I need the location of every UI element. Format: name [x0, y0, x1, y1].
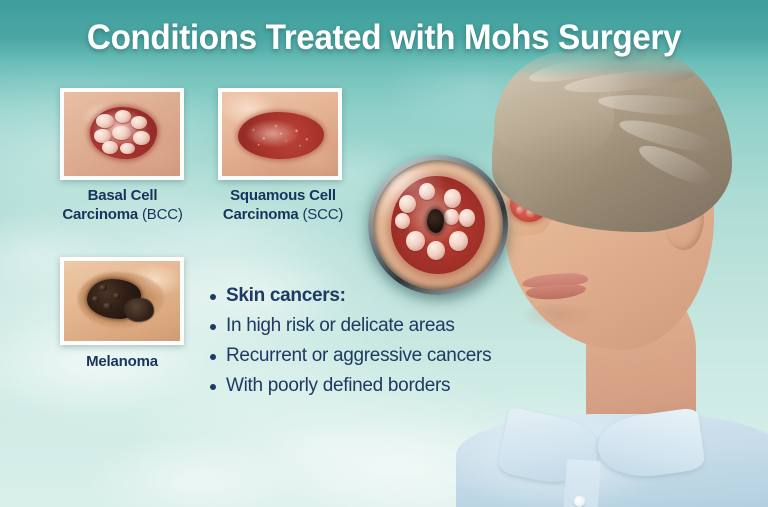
skin-background [64, 261, 180, 341]
melanoma-label: Melanoma [52, 352, 192, 371]
shirt-button [574, 496, 585, 507]
scc-name-line1: Squamous Cell [230, 187, 336, 204]
basal-cell-carcinoma-photo [60, 88, 184, 180]
squamous-cell-carcinoma-photo [218, 88, 342, 180]
skin-background [222, 92, 338, 176]
lesion-ulceration [427, 209, 444, 233]
magnified-lesion [391, 176, 485, 275]
bcc-name-line2: Carcinoma [62, 206, 138, 223]
lesion-nodule [427, 241, 445, 260]
bcc-name-line1: Basal Cell [88, 187, 158, 204]
melanoma-photo [60, 257, 184, 345]
infographic-poster: Conditions Treated with Mohs Surgery Bas… [0, 0, 768, 507]
bullet-list: Skin cancers: In high risk or delicate a… [208, 281, 538, 401]
photo-inner [64, 92, 180, 176]
bcc-lesion [90, 107, 157, 159]
melanoma-speck [113, 293, 120, 299]
page-title: Conditions Treated with Mohs Surgery [19, 18, 749, 58]
skin-background [64, 92, 180, 176]
list-item: Recurrent or aggressive cancers [208, 341, 538, 371]
melanoma-satellite [124, 298, 154, 322]
photo-inner [222, 92, 338, 176]
lesion-nodule [449, 231, 468, 251]
lesion-nodule [131, 116, 147, 128]
list-item: In high risk or delicate areas [208, 311, 538, 341]
lesion-nodule [94, 129, 111, 143]
lesion-nodule [112, 126, 131, 141]
lesion-nodule [133, 131, 150, 145]
patient-portrait [468, 42, 768, 507]
list-item: Skin cancers: [208, 281, 538, 311]
list-item: With poorly defined borders [208, 371, 538, 401]
lesion-nodule [399, 195, 416, 213]
photo-inner [64, 261, 180, 341]
lesion-nodule [419, 183, 435, 200]
lesion-nodule [96, 114, 113, 128]
scc-abbreviation: (SCC) [303, 206, 344, 223]
lesion-nodule [102, 141, 118, 153]
magnified-lesion-inset [368, 155, 508, 295]
squamous-cell-carcinoma-label: Squamous Cell Carcinoma (SCC) [198, 186, 368, 224]
magnifier-lens [373, 160, 503, 290]
lesion-nodule [444, 209, 459, 225]
lesion-nodule [120, 143, 135, 154]
basal-cell-carcinoma-label: Basal Cell Carcinoma (BCC) [40, 186, 205, 224]
melanoma-speck [103, 303, 111, 309]
melanoma-speck [92, 296, 99, 302]
scc-lesion [238, 112, 324, 159]
scc-name-line2: Carcinoma [223, 206, 299, 223]
lesion-nodule [406, 231, 425, 251]
lesion-nodule [459, 209, 476, 227]
bcc-abbreviation: (BCC) [142, 206, 183, 223]
lesion-nodule [395, 213, 410, 229]
lesion-nodule [444, 189, 462, 208]
lesion-nodule [115, 110, 131, 122]
lesion-granularity [238, 112, 324, 159]
